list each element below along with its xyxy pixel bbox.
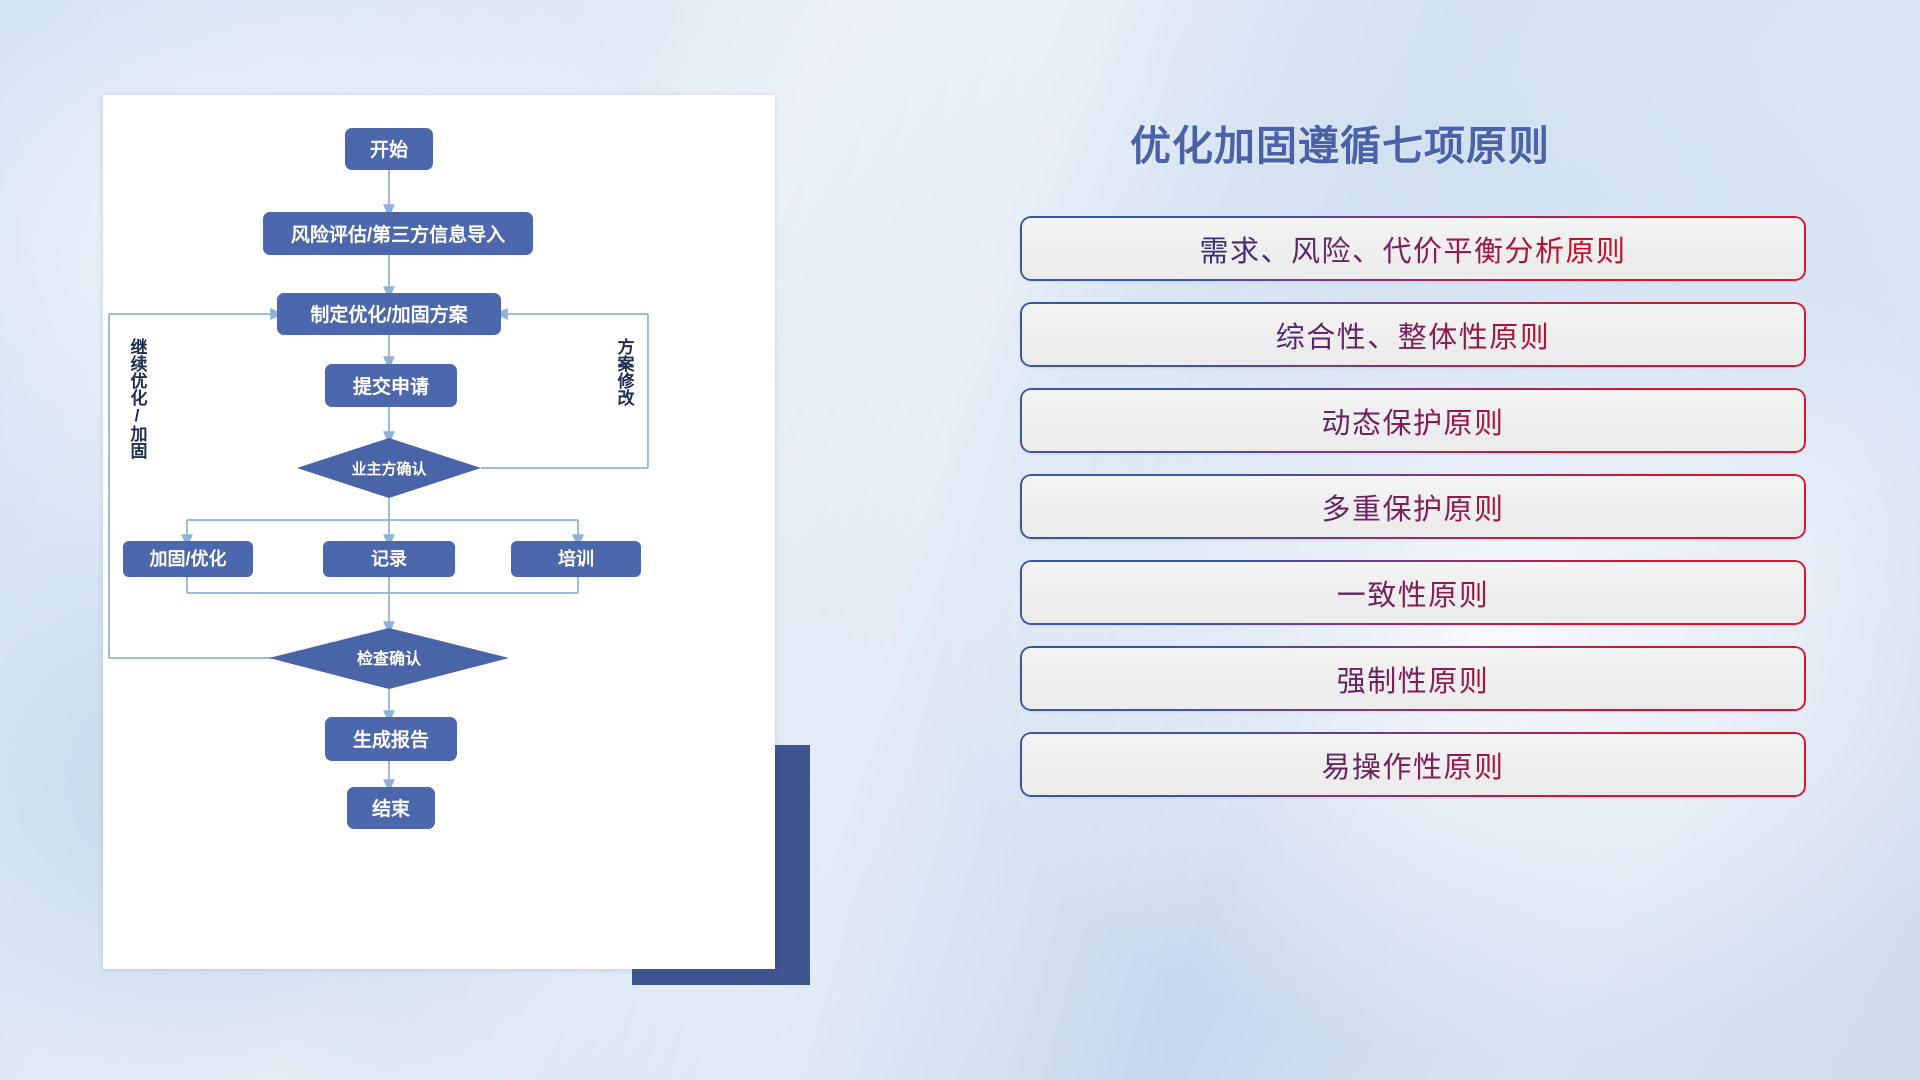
flow-node-check-confirm-label: 检查确认 bbox=[357, 649, 422, 668]
flow-label-continue-optimize: 继续优化/加固 bbox=[128, 337, 149, 460]
flow-node-generate-report: 生成报告 bbox=[325, 717, 457, 761]
flow-node-risk-assessment: 风险评估/第三方信息导入 bbox=[263, 212, 533, 255]
flow-node-risk-assessment-label: 风险评估/第三方信息导入 bbox=[291, 223, 505, 246]
flow-node-record-label: 记录 bbox=[371, 549, 407, 569]
flow-node-end-label: 结束 bbox=[372, 797, 411, 820]
list-item[interactable]: 动态保护原则 bbox=[1020, 388, 1806, 453]
flow-node-reinforce: 加固/优化 bbox=[123, 541, 253, 577]
principle-label: 多重保护原则 bbox=[1020, 474, 1806, 539]
flow-node-owner-confirm: 业主方确认 bbox=[297, 438, 481, 498]
flow-label-plan-revise: 方案修改 bbox=[615, 337, 636, 407]
principle-label: 动态保护原则 bbox=[1020, 388, 1806, 453]
flow-node-submit-label: 提交申请 bbox=[353, 375, 429, 398]
list-item[interactable]: 一致性原则 bbox=[1020, 560, 1806, 625]
flow-node-submit: 提交申请 bbox=[325, 364, 457, 407]
flow-node-start-label: 开始 bbox=[370, 138, 408, 161]
flow-node-plan: 制定优化/加固方案 bbox=[277, 293, 501, 335]
flow-node-reinforce-label: 加固/优化 bbox=[148, 548, 226, 569]
list-item[interactable]: 多重保护原则 bbox=[1020, 474, 1806, 539]
principle-label: 易操作性原则 bbox=[1020, 732, 1806, 797]
flowchart-diagram: 开始 风险评估/第三方信息导入 制定优化/加固方案 提交申请 业主方确认 加固/… bbox=[103, 95, 775, 969]
flow-node-start: 开始 bbox=[345, 128, 433, 170]
list-item[interactable]: 需求、风险、代价平衡分析原则 bbox=[1020, 216, 1806, 281]
principles-panel: 优化加固遵循七项原则 需求、风险、代价平衡分析原则 综合性、整体性原则 动态保护… bbox=[1020, 95, 1850, 995]
page-title: 优化加固遵循七项原则 bbox=[1020, 112, 1660, 172]
list-item[interactable]: 强制性原则 bbox=[1020, 646, 1806, 711]
flowchart-card: 开始 风险评估/第三方信息导入 制定优化/加固方案 提交申请 业主方确认 加固/… bbox=[103, 95, 775, 969]
principle-label: 一致性原则 bbox=[1020, 560, 1806, 625]
flow-node-end: 结束 bbox=[347, 787, 435, 829]
list-item[interactable]: 综合性、整体性原则 bbox=[1020, 302, 1806, 367]
principles-list: 需求、风险、代价平衡分析原则 综合性、整体性原则 动态保护原则 多重保护原则 一… bbox=[1020, 216, 1850, 797]
flow-node-training-label: 培训 bbox=[558, 548, 594, 569]
flow-node-generate-report-label: 生成报告 bbox=[353, 728, 429, 751]
flow-node-record: 记录 bbox=[323, 541, 455, 577]
principle-label: 需求、风险、代价平衡分析原则 bbox=[1020, 216, 1806, 281]
flow-node-owner-confirm-label: 业主方确认 bbox=[351, 460, 427, 478]
flow-node-check-confirm: 检查确认 bbox=[269, 628, 509, 689]
list-item[interactable]: 易操作性原则 bbox=[1020, 732, 1806, 797]
flow-node-training: 培训 bbox=[511, 541, 641, 577]
flow-node-plan-label: 制定优化/加固方案 bbox=[310, 303, 468, 326]
principle-label: 强制性原则 bbox=[1020, 646, 1806, 711]
principle-label: 综合性、整体性原则 bbox=[1020, 302, 1806, 367]
